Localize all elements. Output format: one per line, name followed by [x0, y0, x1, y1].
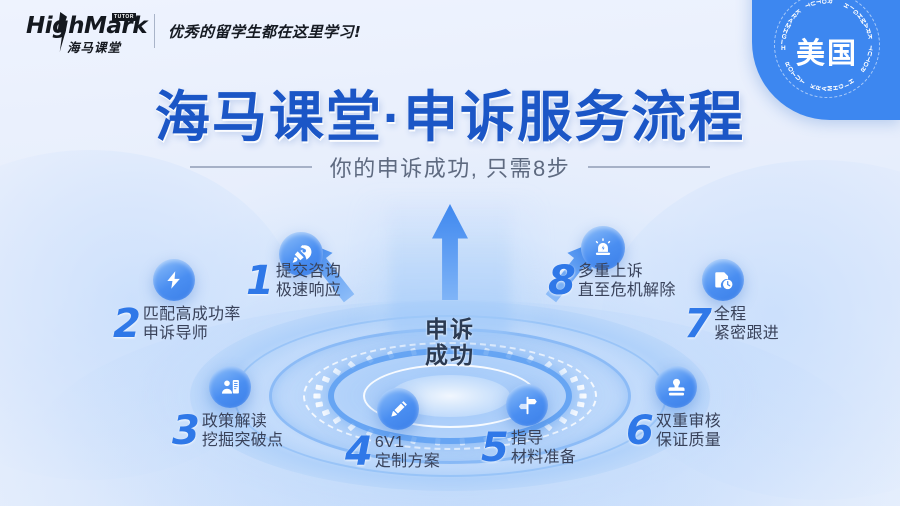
- step-3-line1: 政策解读: [202, 412, 284, 431]
- step-7-text: 全程 紧密跟进: [714, 305, 779, 343]
- step-8-line2: 直至危机解除: [578, 281, 676, 300]
- step-8-body: 8 多重上诉 直至危机解除: [548, 262, 676, 300]
- step-7-line1: 全程: [714, 305, 779, 324]
- center-hub: 申诉 成功: [300, 198, 600, 448]
- step-7-body: 7 全程 紧密跟进: [684, 305, 779, 343]
- step-2-text: 匹配高成功率 申诉导师: [143, 305, 241, 343]
- step-3-number: 3: [172, 413, 199, 449]
- header-tagline: 优秀的留学生都在这里学习!: [168, 21, 361, 42]
- logo-tutor-tag: TUTOR: [112, 13, 136, 21]
- step-4-line1: 6V1: [375, 433, 440, 452]
- hub-label-line2: 成功: [425, 342, 475, 368]
- signpost-icon: [506, 384, 548, 426]
- step-6-line1: 双重审核: [656, 412, 721, 431]
- step-8-line1: 多重上诉: [578, 262, 676, 281]
- step-5-number: 5: [481, 430, 508, 466]
- subtitle-rule-right: [588, 166, 710, 168]
- step-1-line2: 极速响应: [276, 281, 341, 300]
- step-1-line1: 提交咨询: [276, 262, 341, 281]
- brand-logo[interactable]: HighMark TUTOR 海马课堂: [26, 12, 146, 52]
- poster-canvas: HighMark TUTOR 海马课堂 优秀的留学生都在这里学习! HIGHMA…: [0, 0, 900, 506]
- step-2-body: 2 匹配高成功率 申诉导师: [113, 305, 241, 343]
- step-6-text: 双重审核 保证质量: [656, 412, 721, 450]
- step-4-body: 4 6V1 定制方案: [345, 433, 440, 471]
- document-clock-icon: [702, 259, 744, 301]
- badge-country-label: 美国: [796, 30, 858, 72]
- step-1-text: 提交咨询 极速响应: [276, 262, 341, 300]
- step-6-line2: 保证质量: [656, 431, 721, 450]
- subtitle-rule-left: [190, 166, 312, 168]
- person-document-icon: [209, 366, 251, 408]
- step-5-body: 5 指导 材料准备: [481, 429, 576, 467]
- step-1-number: 1: [246, 263, 273, 299]
- lightning-bolt-icon: [153, 259, 195, 301]
- step-3-body: 3 政策解读 挖掘突破点: [172, 412, 283, 450]
- step-7-number: 7: [684, 306, 711, 342]
- step-5-line1: 指导: [511, 429, 576, 448]
- page-title: 海马课堂·申诉服务流程: [0, 72, 900, 152]
- step-4-line2: 定制方案: [375, 452, 440, 471]
- step-8-text: 多重上诉 直至危机解除: [578, 262, 676, 300]
- step-5-line2: 材料准备: [511, 448, 576, 467]
- step-1-body: 1 提交咨询 极速响应: [246, 262, 341, 300]
- step-2-line2: 申诉导师: [143, 324, 241, 343]
- step-6-number: 6: [626, 413, 653, 449]
- header-divider: [154, 14, 155, 48]
- hub-label: 申诉 成功: [425, 316, 475, 368]
- step-3-line2: 挖掘突破点: [202, 431, 284, 450]
- step-3-text: 政策解读 挖掘突破点: [202, 412, 284, 450]
- step-2-number: 2: [113, 306, 140, 342]
- step-7-line2: 紧密跟进: [714, 324, 779, 343]
- step-5-text: 指导 材料准备: [511, 429, 576, 467]
- step-8-number: 8: [548, 263, 575, 299]
- pencil-icon: [377, 388, 419, 430]
- page-subtitle: 你的申诉成功, 只需8步: [330, 151, 570, 183]
- logo-chinese-name: 海马课堂: [67, 37, 121, 56]
- step-6-body: 6 双重审核 保证质量: [626, 412, 721, 450]
- subtitle-row: 你的申诉成功, 只需8步: [0, 151, 900, 183]
- step-4-number: 4: [345, 434, 372, 470]
- stamp-icon: [655, 366, 697, 408]
- step-4-text: 6V1 定制方案: [375, 433, 440, 471]
- step-2-line1: 匹配高成功率: [143, 305, 241, 324]
- hub-label-line1: 申诉: [425, 316, 475, 342]
